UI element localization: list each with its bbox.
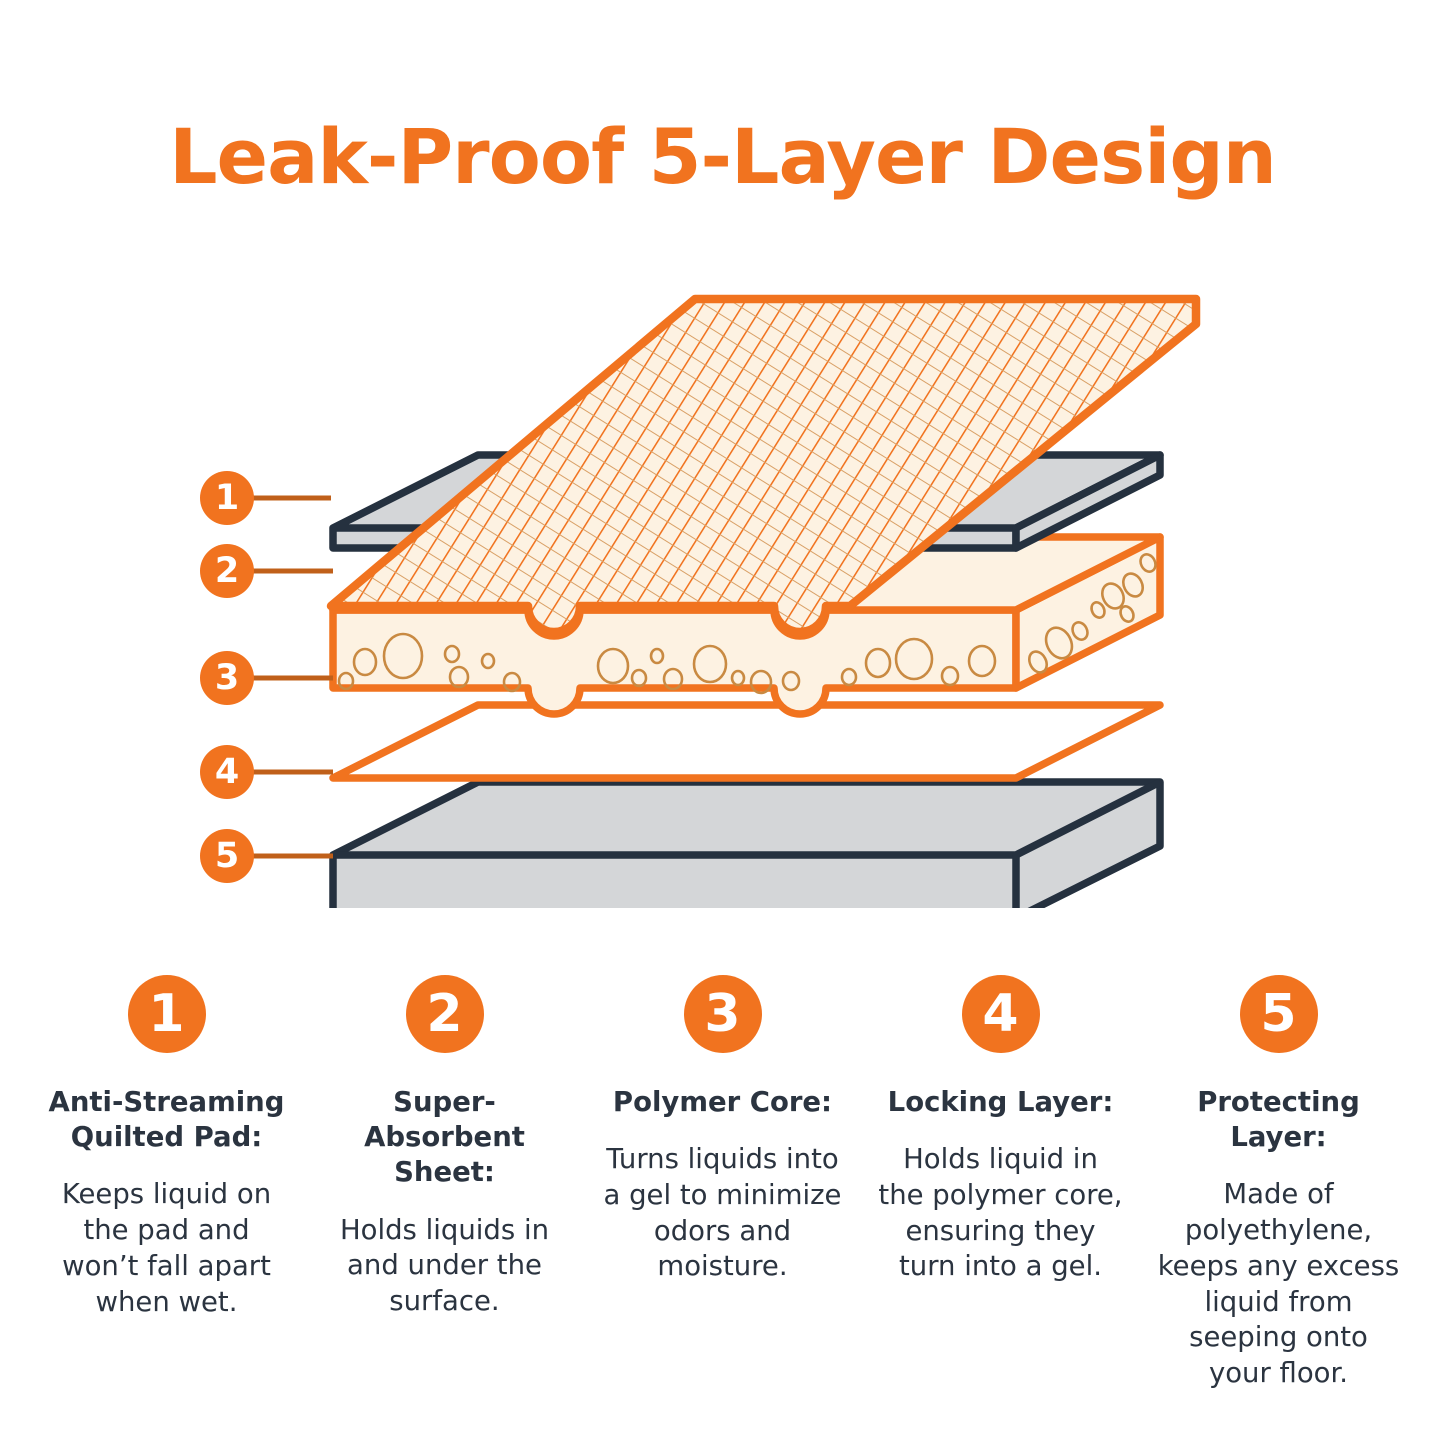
- callout-group: 1 2 3 4: [200, 471, 333, 883]
- column-badge-3: 3: [684, 975, 762, 1053]
- layer-column-3: 3 Polymer Core: Turns liquids into a gel…: [584, 975, 862, 1285]
- column-body-2: Holds liquids in and under the surface.: [322, 1213, 567, 1320]
- callout-badge-5[interactable]: 5: [200, 829, 254, 883]
- infographic-page: Leak-Proof 5-Layer Design: [0, 0, 1445, 1445]
- callout-badge-3[interactable]: 3: [200, 651, 254, 705]
- page-title: Leak-Proof 5-Layer Design: [0, 112, 1445, 201]
- callout-badge-2[interactable]: 2: [200, 544, 254, 598]
- callout-badge-4[interactable]: 4: [200, 745, 254, 799]
- layer-column-4: 4 Locking Layer: Holds liquid in the pol…: [862, 975, 1140, 1285]
- layer-description-columns: 1 Anti-Streaming Quilted Pad: Keeps liqu…: [0, 975, 1445, 1392]
- layer-5-protecting-layer: [333, 782, 1160, 908]
- layer-4-locking-layer: [333, 705, 1160, 778]
- column-badge-5: 5: [1240, 975, 1318, 1053]
- column-body-5: Made of polyethylene, keeps any excess l…: [1156, 1177, 1401, 1392]
- column-body-4: Holds liquid in the polymer core, ensuri…: [878, 1142, 1123, 1285]
- layer-column-5: 5 Protecting Layer: Made of polyethylene…: [1140, 975, 1418, 1392]
- column-title-3: Polymer Core:: [613, 1085, 832, 1120]
- callout-badge-5-label: 5: [215, 836, 239, 876]
- callout-badge-1[interactable]: 1: [200, 471, 254, 525]
- layer-column-1: 1 Anti-Streaming Quilted Pad: Keeps liqu…: [28, 975, 306, 1320]
- layer-column-2: 2 Super-Absorbent Sheet: Holds liquids i…: [306, 975, 584, 1320]
- column-title-5: Protecting Layer:: [1154, 1085, 1404, 1155]
- column-badge-2: 2: [406, 975, 484, 1053]
- column-badge-1: 1: [128, 975, 206, 1053]
- column-body-1: Keeps liquid on the pad and won’t fall a…: [44, 1177, 289, 1320]
- callout-badge-2-label: 2: [215, 551, 239, 591]
- column-badge-4: 4: [962, 975, 1040, 1053]
- column-title-4: Locking Layer:: [888, 1085, 1114, 1120]
- column-title-2: Super-Absorbent Sheet:: [320, 1085, 570, 1191]
- layer-diagram: 1 2 3 4: [150, 258, 1280, 908]
- callout-badge-1-label: 1: [215, 478, 239, 518]
- callout-badge-3-label: 3: [215, 658, 239, 698]
- callout-badge-4-label: 4: [215, 752, 239, 792]
- column-title-1: Anti-Streaming Quilted Pad:: [42, 1085, 292, 1155]
- column-body-3: Turns liquids into a gel to minimize odo…: [600, 1142, 845, 1285]
